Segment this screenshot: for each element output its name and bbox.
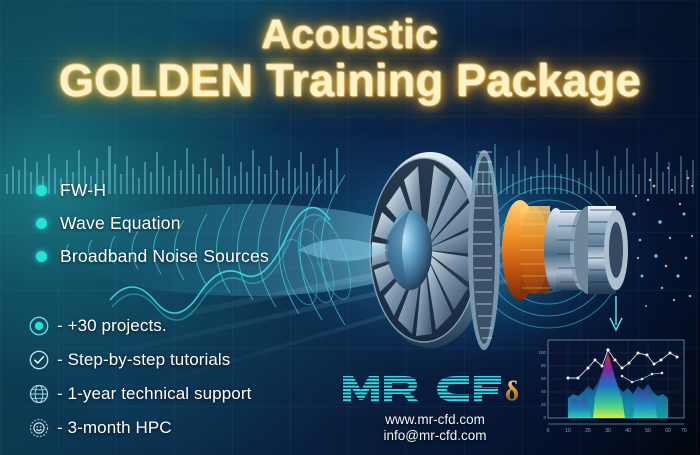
brand-block: δ www.mr-cfd.com info@mr-cfd.com xyxy=(335,372,535,445)
feature-label: - 1-year technical support xyxy=(57,384,251,404)
title-line-2: GOLDEN Training Package xyxy=(0,56,700,106)
website-link[interactable]: www.mr-cfd.com xyxy=(335,412,535,428)
feature-label: - 3-month HPC xyxy=(57,418,172,438)
email-link[interactable]: info@mr-cfd.com xyxy=(335,428,535,444)
y-tick-label: 0 xyxy=(543,415,546,420)
y-tick-label: 20 xyxy=(541,402,547,407)
list-item: Broadband Noise Sources xyxy=(36,246,269,267)
pointer-arrow-icon xyxy=(610,296,622,330)
list-item: Wave Equation xyxy=(36,213,269,234)
topics-list: FW-H Wave Equation Broadband Noise Sourc… xyxy=(36,180,269,279)
list-item: FW-H xyxy=(36,180,269,201)
acoustic-training-poster: Acoustic GOLDEN Training Package FW-H Wa… xyxy=(0,0,700,455)
title-line-1: Acoustic xyxy=(0,14,700,56)
dot-bullet-icon xyxy=(36,251,47,262)
globe-icon xyxy=(28,383,50,405)
x-tick-label: 20 xyxy=(585,428,591,434)
spectrogram-chart: 0 10 20 30 40 50 60 70 0 20 40 60 80 100 xyxy=(537,336,695,444)
y-tick-label: 100 xyxy=(538,350,546,355)
check-circle-icon xyxy=(28,349,50,371)
list-item: - 3-month HPC xyxy=(28,415,251,441)
x-tick-label: 0 xyxy=(547,428,550,434)
features-list: - +30 projects. - Step-by-step tutorials… xyxy=(28,313,251,449)
dot-bullet-icon xyxy=(36,218,47,229)
x-tick-label: 60 xyxy=(665,428,671,434)
list-item: - +30 projects. xyxy=(28,313,251,339)
list-item: - 1-year technical support xyxy=(28,381,251,407)
y-tick-label: 40 xyxy=(541,389,547,394)
poster-title: Acoustic GOLDEN Training Package xyxy=(0,14,700,106)
y-tick-label: 80 xyxy=(541,363,547,368)
y-tick-label: 60 xyxy=(541,376,547,381)
x-tick-label: 30 xyxy=(605,428,611,434)
topic-label: FW-H xyxy=(60,180,106,201)
x-tick-label: 50 xyxy=(645,428,651,434)
contact-info: www.mr-cfd.com info@mr-cfd.com xyxy=(335,412,535,445)
dot-bullet-icon xyxy=(36,185,47,196)
feature-label: - +30 projects. xyxy=(57,316,167,336)
feature-label: - Step-by-step tutorials xyxy=(57,350,230,370)
topic-label: Broadband Noise Sources xyxy=(60,246,269,267)
clock-circle-icon xyxy=(28,417,50,439)
logo-delta-symbol: δ xyxy=(505,376,519,406)
x-tick-label: 40 xyxy=(625,428,631,434)
radio-filled-icon xyxy=(28,315,50,337)
x-tick-label: 10 xyxy=(565,428,571,434)
topic-label: Wave Equation xyxy=(60,213,181,234)
x-tick-label: 70 xyxy=(681,428,687,434)
list-item: - Step-by-step tutorials xyxy=(28,347,251,373)
mr-cfd-logo: δ xyxy=(335,372,535,406)
